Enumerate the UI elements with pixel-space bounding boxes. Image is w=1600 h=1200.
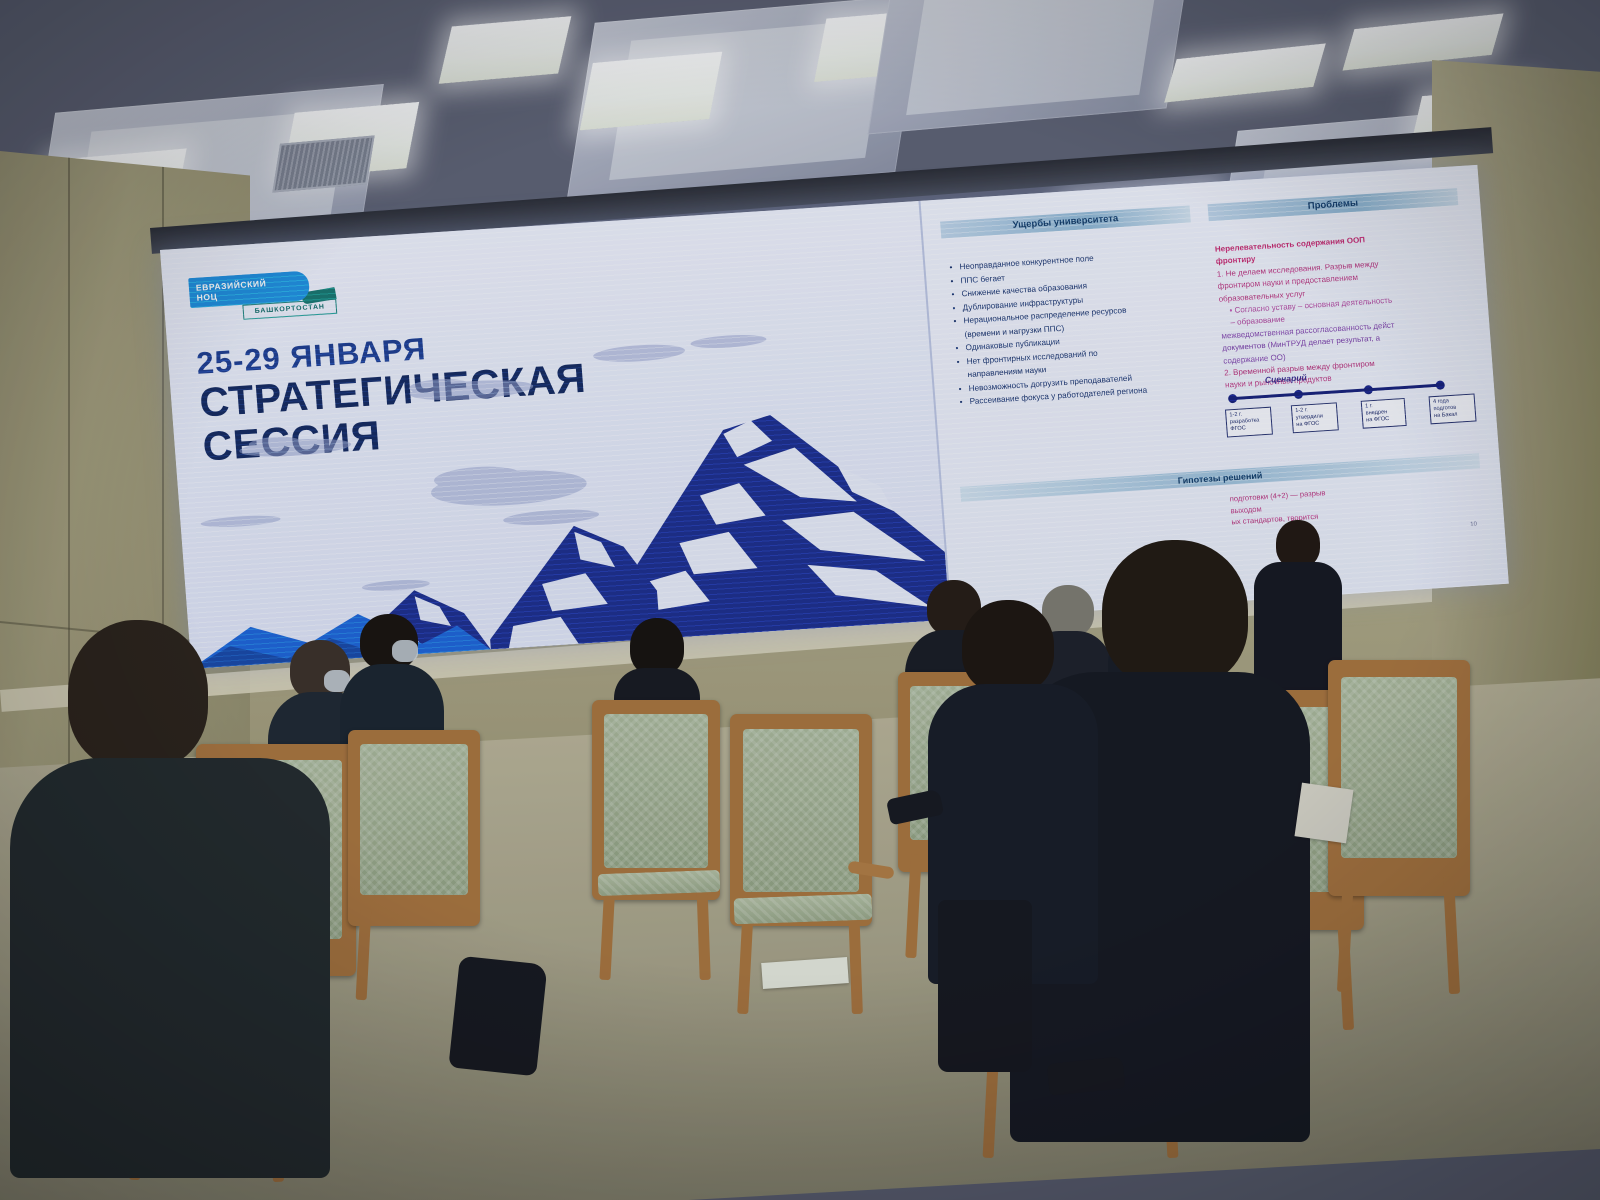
logo-region: БАШКОРТОСТАН	[254, 303, 325, 315]
head	[1102, 540, 1248, 688]
slide-title: ЕВРАЗИЙСКИЙ НОЦ БАШКОРТОСТАН 25-29 ЯНВАР…	[160, 201, 950, 669]
timeline-box: 1 г. внедрен на ФГОС	[1361, 398, 1407, 429]
noc-logo: ЕВРАЗИЙСКИЙ НОЦ БАШКОРТОСТАН	[188, 269, 342, 333]
hypotheses-band: Гипотезы решений	[960, 453, 1480, 502]
face-mask	[392, 640, 418, 662]
chair[interactable]	[348, 730, 480, 926]
timeline-box: 1-2 г. разработка ФГОС	[1225, 407, 1273, 438]
torso	[10, 758, 330, 1178]
damages-list: Неоправданное конкурентное поле ППС бега…	[947, 249, 1148, 409]
column-header-problems: Проблемы	[1208, 188, 1459, 221]
column-header-damages: Ущербы университета	[940, 205, 1191, 238]
attendee-foreground	[10, 620, 330, 1180]
chair-seat[interactable]	[598, 870, 721, 896]
timeline-node	[1294, 390, 1304, 400]
shoe	[448, 956, 547, 1077]
head	[68, 620, 208, 770]
bag	[938, 900, 1032, 1072]
problems-text: Нерелевательность содержания ООП фронтир…	[1215, 228, 1476, 393]
timeline-box: 1-2 г. утвердили на ФГОС	[1291, 402, 1339, 433]
conference-room-photo: ЕВРАЗИЙСКИЙ НОЦ БАШКОРТОСТАН 25-29 ЯНВАР…	[0, 0, 1600, 1200]
mountain-illustration	[169, 321, 950, 669]
timeline-node	[1435, 380, 1445, 390]
head	[962, 600, 1054, 694]
chair-seat[interactable]	[734, 894, 873, 925]
hvac-diffuser-icon	[272, 135, 374, 192]
page-number: 10	[1470, 522, 1477, 528]
timeline-node	[1364, 385, 1374, 395]
timeline-node	[1228, 394, 1238, 404]
timeline-box: 4 года подготов на Бакал	[1429, 393, 1477, 424]
ceiling-light-panel	[439, 16, 572, 84]
ceiling-light-panel	[580, 52, 723, 131]
chair[interactable]	[1328, 660, 1470, 896]
paper-on-seat	[1294, 783, 1353, 844]
